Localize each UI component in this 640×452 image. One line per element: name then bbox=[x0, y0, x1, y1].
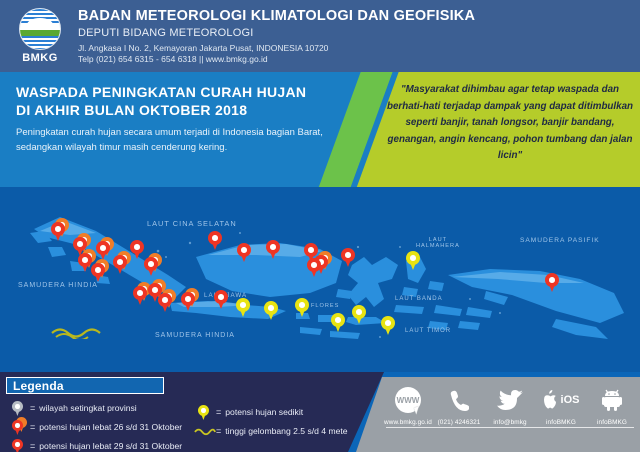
twitter-icon bbox=[497, 389, 523, 411]
map-pin bbox=[214, 290, 228, 309]
map-pin bbox=[352, 305, 366, 324]
social-link-label: infoBMKG bbox=[588, 419, 636, 426]
legend-item: =wilayah setingkat provinsi bbox=[10, 398, 182, 417]
legend-equals: = bbox=[30, 403, 35, 413]
wave-mark bbox=[50, 323, 106, 339]
map-pin bbox=[113, 255, 127, 274]
headline-title: WASPADA PENINGKATAN CURAH HUJAN DI AKHIR… bbox=[16, 84, 346, 119]
legend-equals: = bbox=[30, 441, 35, 451]
map-pin bbox=[181, 292, 195, 311]
apple-icon: iOS bbox=[537, 385, 585, 415]
social-link-twitter[interactable]: info@bmkg bbox=[486, 385, 534, 426]
twitter-icon bbox=[486, 385, 534, 415]
map-pin bbox=[295, 298, 309, 317]
legend-item: =potensi hujan lebat 29 s/d 31 Oktober bbox=[10, 436, 182, 452]
indonesia-map: LAUT CINA SELATANSAMUDERA HINDIASAMUDERA… bbox=[0, 187, 640, 372]
legend-equals: = bbox=[216, 407, 221, 417]
map-pin bbox=[264, 301, 278, 320]
social-link-label: info@bmkg bbox=[486, 419, 534, 426]
social-link-label: (021) 4246321 bbox=[435, 419, 483, 426]
header-text-block: BADAN METEOROLOGI KLIMATOLOGI DAN GEOFIS… bbox=[72, 8, 475, 65]
social-link-apple[interactable]: iOSinfoBMKG bbox=[537, 385, 585, 426]
social-link-android[interactable]: infoBMKG bbox=[588, 385, 636, 426]
map-pin bbox=[51, 222, 65, 241]
phone-icon bbox=[435, 385, 483, 415]
map-pin bbox=[78, 253, 92, 272]
pin-grey-icon bbox=[10, 398, 30, 417]
advisory-quote: "Masyarakat dihimbau agar tetap waspada … bbox=[386, 82, 634, 165]
legend-item-label: potensi hujan lebat 26 s/d 31 Oktober bbox=[39, 422, 182, 432]
www-icon: WWW bbox=[395, 387, 421, 413]
map-pin bbox=[144, 257, 158, 276]
social-link-label: infoBMKG bbox=[537, 419, 585, 426]
social-link-label: www.bmkg.go.id bbox=[384, 419, 432, 426]
map-pin bbox=[96, 241, 110, 260]
www-icon: WWW bbox=[384, 385, 432, 415]
social-footer: WWWwww.bmkg.go.id(021) 4246321info@bmkgi… bbox=[356, 377, 640, 452]
map-pin bbox=[237, 243, 251, 262]
legend-equals: = bbox=[30, 422, 35, 432]
agency-title: BADAN METEOROLOGI KLIMATOLOGI DAN GEOFIS… bbox=[78, 8, 475, 25]
legend-title: Legenda bbox=[7, 379, 64, 393]
pin-yellow-icon bbox=[196, 402, 216, 421]
wave-icon bbox=[196, 421, 216, 440]
agency-address: Jl. Angkasa I No. 2, Kemayoran Jakarta P… bbox=[78, 43, 475, 54]
bmkg-logo: BMKG bbox=[0, 0, 72, 72]
map-pin bbox=[133, 286, 147, 305]
android-icon bbox=[588, 385, 636, 415]
map-pin bbox=[307, 258, 321, 277]
map-pin bbox=[266, 240, 280, 259]
map-pin bbox=[406, 251, 420, 270]
pin-red-shadow-icon bbox=[10, 417, 30, 436]
map-pin bbox=[341, 248, 355, 267]
legend-title-box: Legenda bbox=[6, 377, 164, 394]
map-pin bbox=[381, 316, 395, 335]
bmkg-logo-label: BMKG bbox=[22, 52, 58, 64]
pin-red-icon bbox=[10, 436, 30, 452]
legend-panel: Legenda =wilayah setingkat provinsi=pote… bbox=[0, 372, 348, 452]
page-header: BMKG BADAN METEOROLOGI KLIMATOLOGI DAN G… bbox=[0, 0, 640, 72]
android-icon bbox=[602, 389, 622, 411]
legend-item: =potensi hujan lebat 26 s/d 31 Oktober bbox=[10, 417, 182, 436]
map-pin bbox=[158, 293, 172, 312]
map-pin bbox=[130, 240, 144, 259]
legend-column-left: =wilayah setingkat provinsi=potensi huja… bbox=[10, 398, 182, 452]
map-pin bbox=[545, 273, 559, 292]
legend-equals: = bbox=[216, 426, 221, 436]
headline-subtitle: Peningkatan curah hujan secara umum terj… bbox=[16, 125, 346, 155]
phone-icon bbox=[449, 389, 469, 411]
legend-item: =tinggi gelombang 2.5 s/d 4 meter bbox=[196, 421, 350, 440]
agency-subtitle: DEPUTI BIDANG METEOROLOGI bbox=[78, 26, 475, 40]
legend-item-label: wilayah setingkat provinsi bbox=[39, 403, 136, 413]
legend-item-label: potensi hujan lebat 29 s/d 31 Oktober bbox=[39, 441, 182, 451]
map-pin bbox=[91, 263, 105, 282]
headline-banner: WASPADA PENINGKATAN CURAH HUJAN DI AKHIR… bbox=[0, 72, 640, 187]
legend-item: =potensi hujan sedikit bbox=[196, 402, 350, 421]
agency-contact: Telp (021) 654 6315 - 654 6318 || www.bm… bbox=[78, 54, 475, 65]
social-link-phone[interactable]: (021) 4246321 bbox=[435, 385, 483, 426]
map-pin bbox=[208, 231, 222, 250]
legend-column-right: =potensi hujan sedikit=tinggi gelombang … bbox=[196, 402, 350, 440]
infographic-page: BMKG BADAN METEOROLOGI KLIMATOLOGI DAN G… bbox=[0, 0, 640, 452]
social-icon-row: WWWwww.bmkg.go.id(021) 4246321info@bmkgi… bbox=[384, 385, 636, 426]
legend-item-label: potensi hujan sedikit bbox=[225, 407, 303, 417]
footer-divider bbox=[386, 427, 634, 428]
bmkg-logo-icon bbox=[19, 8, 61, 50]
apple-icon: iOS bbox=[543, 390, 580, 410]
map-pin bbox=[236, 298, 250, 317]
social-link-www[interactable]: WWWwww.bmkg.go.id bbox=[384, 385, 432, 426]
map-pin bbox=[331, 313, 345, 332]
legend-item-label: tinggi gelombang 2.5 s/d 4 meter bbox=[225, 426, 350, 436]
headline-block: WASPADA PENINGKATAN CURAH HUJAN DI AKHIR… bbox=[16, 84, 346, 155]
